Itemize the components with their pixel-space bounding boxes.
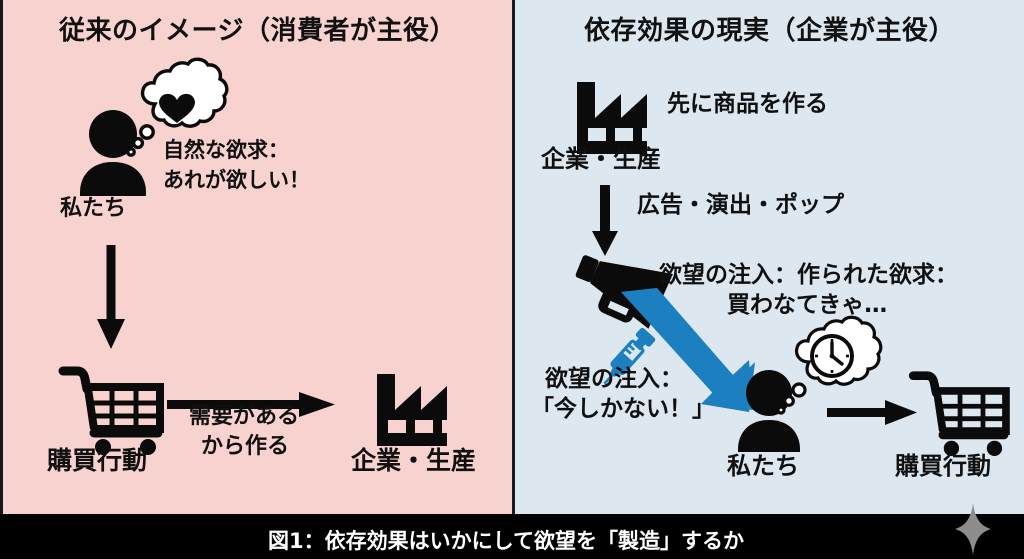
created-desire-line2: 買わなてきゃ… — [727, 292, 887, 319]
ad-text-right: 広告・演出・ポップ — [637, 192, 844, 219]
factory-note-right: 先に商品を作る — [667, 91, 828, 118]
factory-icon-right — [569, 68, 677, 154]
desire-text-left-line2: あれが欲しい！ — [163, 168, 310, 193]
factory-label-left: 企業・生産 — [351, 446, 476, 476]
figure-caption-text: 図1：依存効果はいかにして欲望を「製造」するか — [268, 525, 744, 555]
figure-caption-bar: 図1：依存効果はいかにして欲望を「製造」するか — [0, 514, 1024, 559]
person-label-right: 私たち — [727, 452, 799, 480]
created-desire-line1: 欲望の注入：作られた欲求： — [659, 262, 958, 289]
right-panel-dependence-effect: 依存効果の現実（企業が主役） 企業・生産 先に商品を作る 広告・演出・ポップ — [515, 0, 1024, 514]
down-arrow-right — [591, 185, 619, 257]
factory-label-right: 企業・生産 — [541, 145, 661, 173]
sparkle-icon — [955, 503, 991, 555]
person-label-left: 私たち — [60, 196, 126, 222]
left-panel-traditional-image: 従来のイメージ（消費者が主役） 私たち 自然な欲求： あれが欲しい！ — [3, 0, 512, 514]
figure-canvas: 従来のイメージ（消費者が主役） 私たち 自然な欲求： あれが欲しい！ — [0, 0, 1024, 559]
shopping-cart-icon-right — [911, 368, 1011, 456]
left-panel-title: 従来のイメージ（消費者が主役） — [3, 10, 512, 47]
arrow-text-left-line2: から作る — [201, 434, 289, 460]
desire-text-left-line1: 自然な欲求： — [163, 138, 289, 163]
factory-icon-left — [369, 360, 477, 446]
shopping-cart-icon-left — [61, 363, 165, 455]
cart-label-right: 購買行動 — [895, 452, 991, 480]
down-arrow-left — [96, 245, 126, 350]
arrow-text-left-line1: 需要がある — [189, 404, 299, 430]
cart-label-left: 購買行動 — [47, 446, 147, 476]
right-panel-title: 依存効果の現実（企業が主役） — [515, 10, 1024, 47]
right-arrow-right-panel — [827, 400, 919, 426]
